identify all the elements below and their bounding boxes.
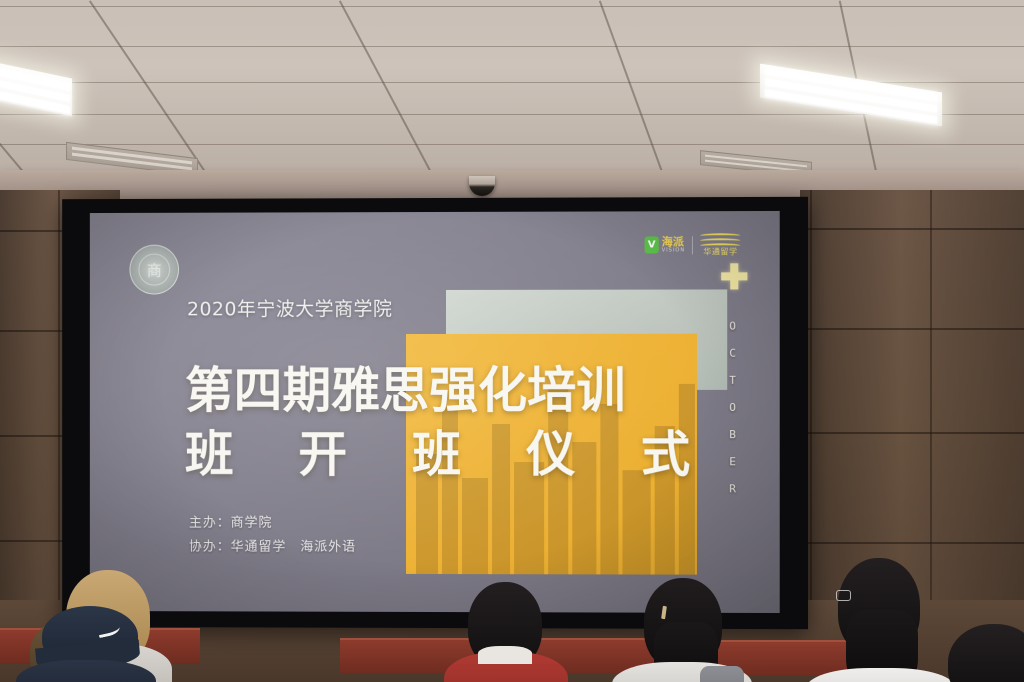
ceiling [0, 0, 1024, 190]
slide-subtitle: 2020年宁波大学商学院 [187, 294, 392, 321]
university-seal-logo: 商 [129, 245, 179, 295]
slide-title-line2: 班 开 班 仪 式 [185, 424, 714, 486]
audience-row [0, 540, 1024, 682]
vision-badge-icon: V [645, 236, 659, 253]
vision-en-label: VISION [662, 248, 685, 253]
huatong-wave-icon [700, 233, 740, 246]
month-letter: O [729, 401, 737, 414]
huatong-logo: 华通留学 [700, 233, 740, 256]
month-letter: E [729, 455, 737, 468]
month-letter: T [729, 374, 737, 387]
slide-title-line1: 第四期雅思强化培训 [185, 360, 626, 422]
lecture-hall-photo: 商 V 海派 VISION 华 [0, 0, 1024, 682]
month-letter: B [729, 428, 737, 441]
month-letter: O [729, 320, 737, 333]
vision-logo: V 海派 VISION [645, 236, 686, 253]
brand-divider [692, 236, 693, 254]
brand-logo-group: V 海派 VISION 华通留学 [645, 233, 741, 256]
month-letter: C [729, 347, 737, 360]
plus-decoration-icon [721, 263, 747, 289]
month-letter: R [729, 482, 737, 495]
month-vertical-label: O C T O B E R [729, 320, 737, 496]
seal-glyph: 商 [138, 254, 170, 286]
vision-cn-label: 海派 [662, 236, 685, 247]
eyeglasses [836, 590, 851, 601]
huatong-cn-label: 华通留学 [703, 248, 737, 256]
slide-credit-organizer: 主办：商学院 [189, 512, 272, 531]
